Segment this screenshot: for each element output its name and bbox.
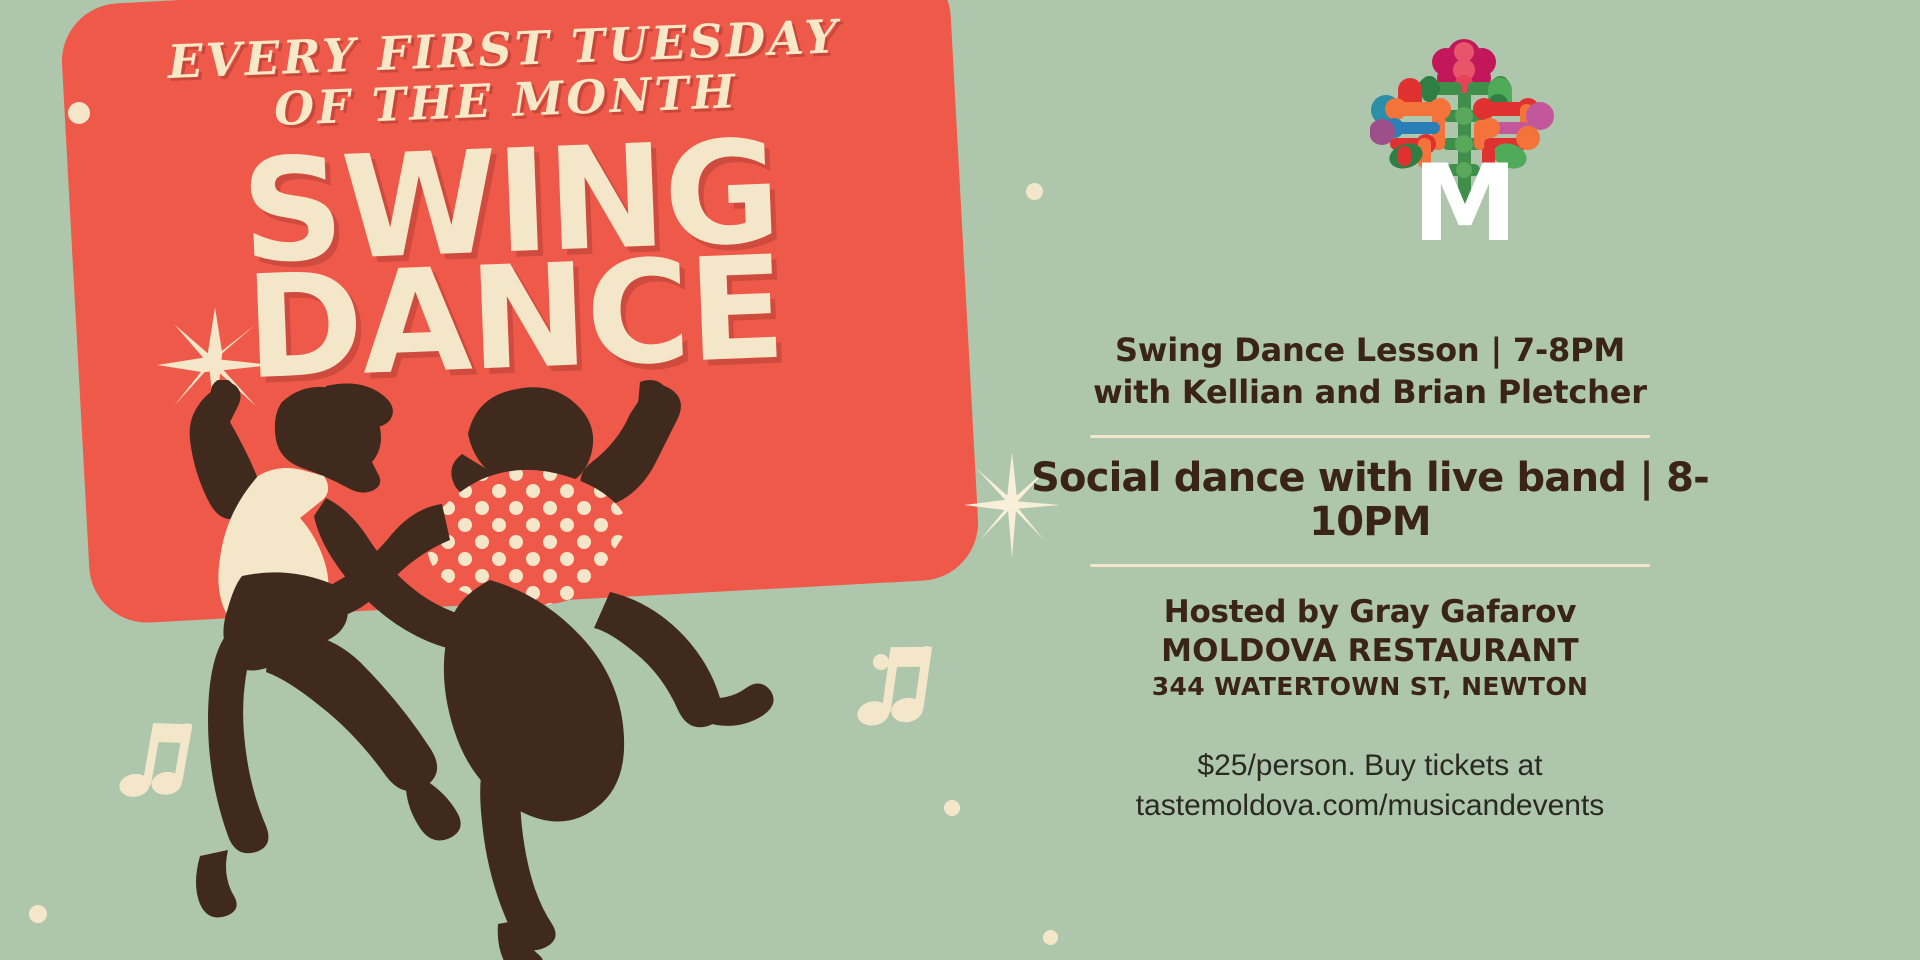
lesson-line-1: Swing Dance Lesson | 7-8PM (1010, 330, 1730, 372)
tickets-url-line[interactable]: tastemoldova.com/musicandevents (1010, 786, 1730, 826)
decorative-dot (944, 800, 960, 816)
follow-dancer (323, 380, 774, 960)
decorative-dot (29, 905, 47, 923)
tickets-block: $25/person. Buy tickets at tastemoldova.… (1010, 746, 1730, 826)
moldova-logo: M (1370, 28, 1560, 243)
tickets-price-line: $25/person. Buy tickets at (1010, 746, 1730, 786)
swing-dancers-illustration (150, 380, 870, 960)
lesson-line-2: with Kellian and Brian Pletcher (1010, 372, 1730, 414)
decorative-dot (1026, 183, 1043, 200)
decorative-dot (1043, 930, 1058, 945)
decorative-dot (68, 102, 90, 124)
divider-lower (1090, 564, 1650, 567)
host-line: Hosted by Gray Gafarov (1010, 593, 1730, 632)
social-dance-line: Social dance with live band | 8-10PM (1010, 456, 1730, 544)
divider-upper (1090, 435, 1650, 438)
logo-letter-m: M (1412, 142, 1517, 243)
venue-line: MOLDOVA RESTAURANT (1010, 632, 1730, 671)
event-info-column: Swing Dance Lesson | 7-8PM with Kellian … (1010, 330, 1730, 826)
address-line: 344 WATERTOWN ST, NEWTON (1010, 671, 1730, 704)
poster-canvas: EVERY FIRST TUESDAY OF THE MONTH SWING D… (0, 0, 1920, 960)
